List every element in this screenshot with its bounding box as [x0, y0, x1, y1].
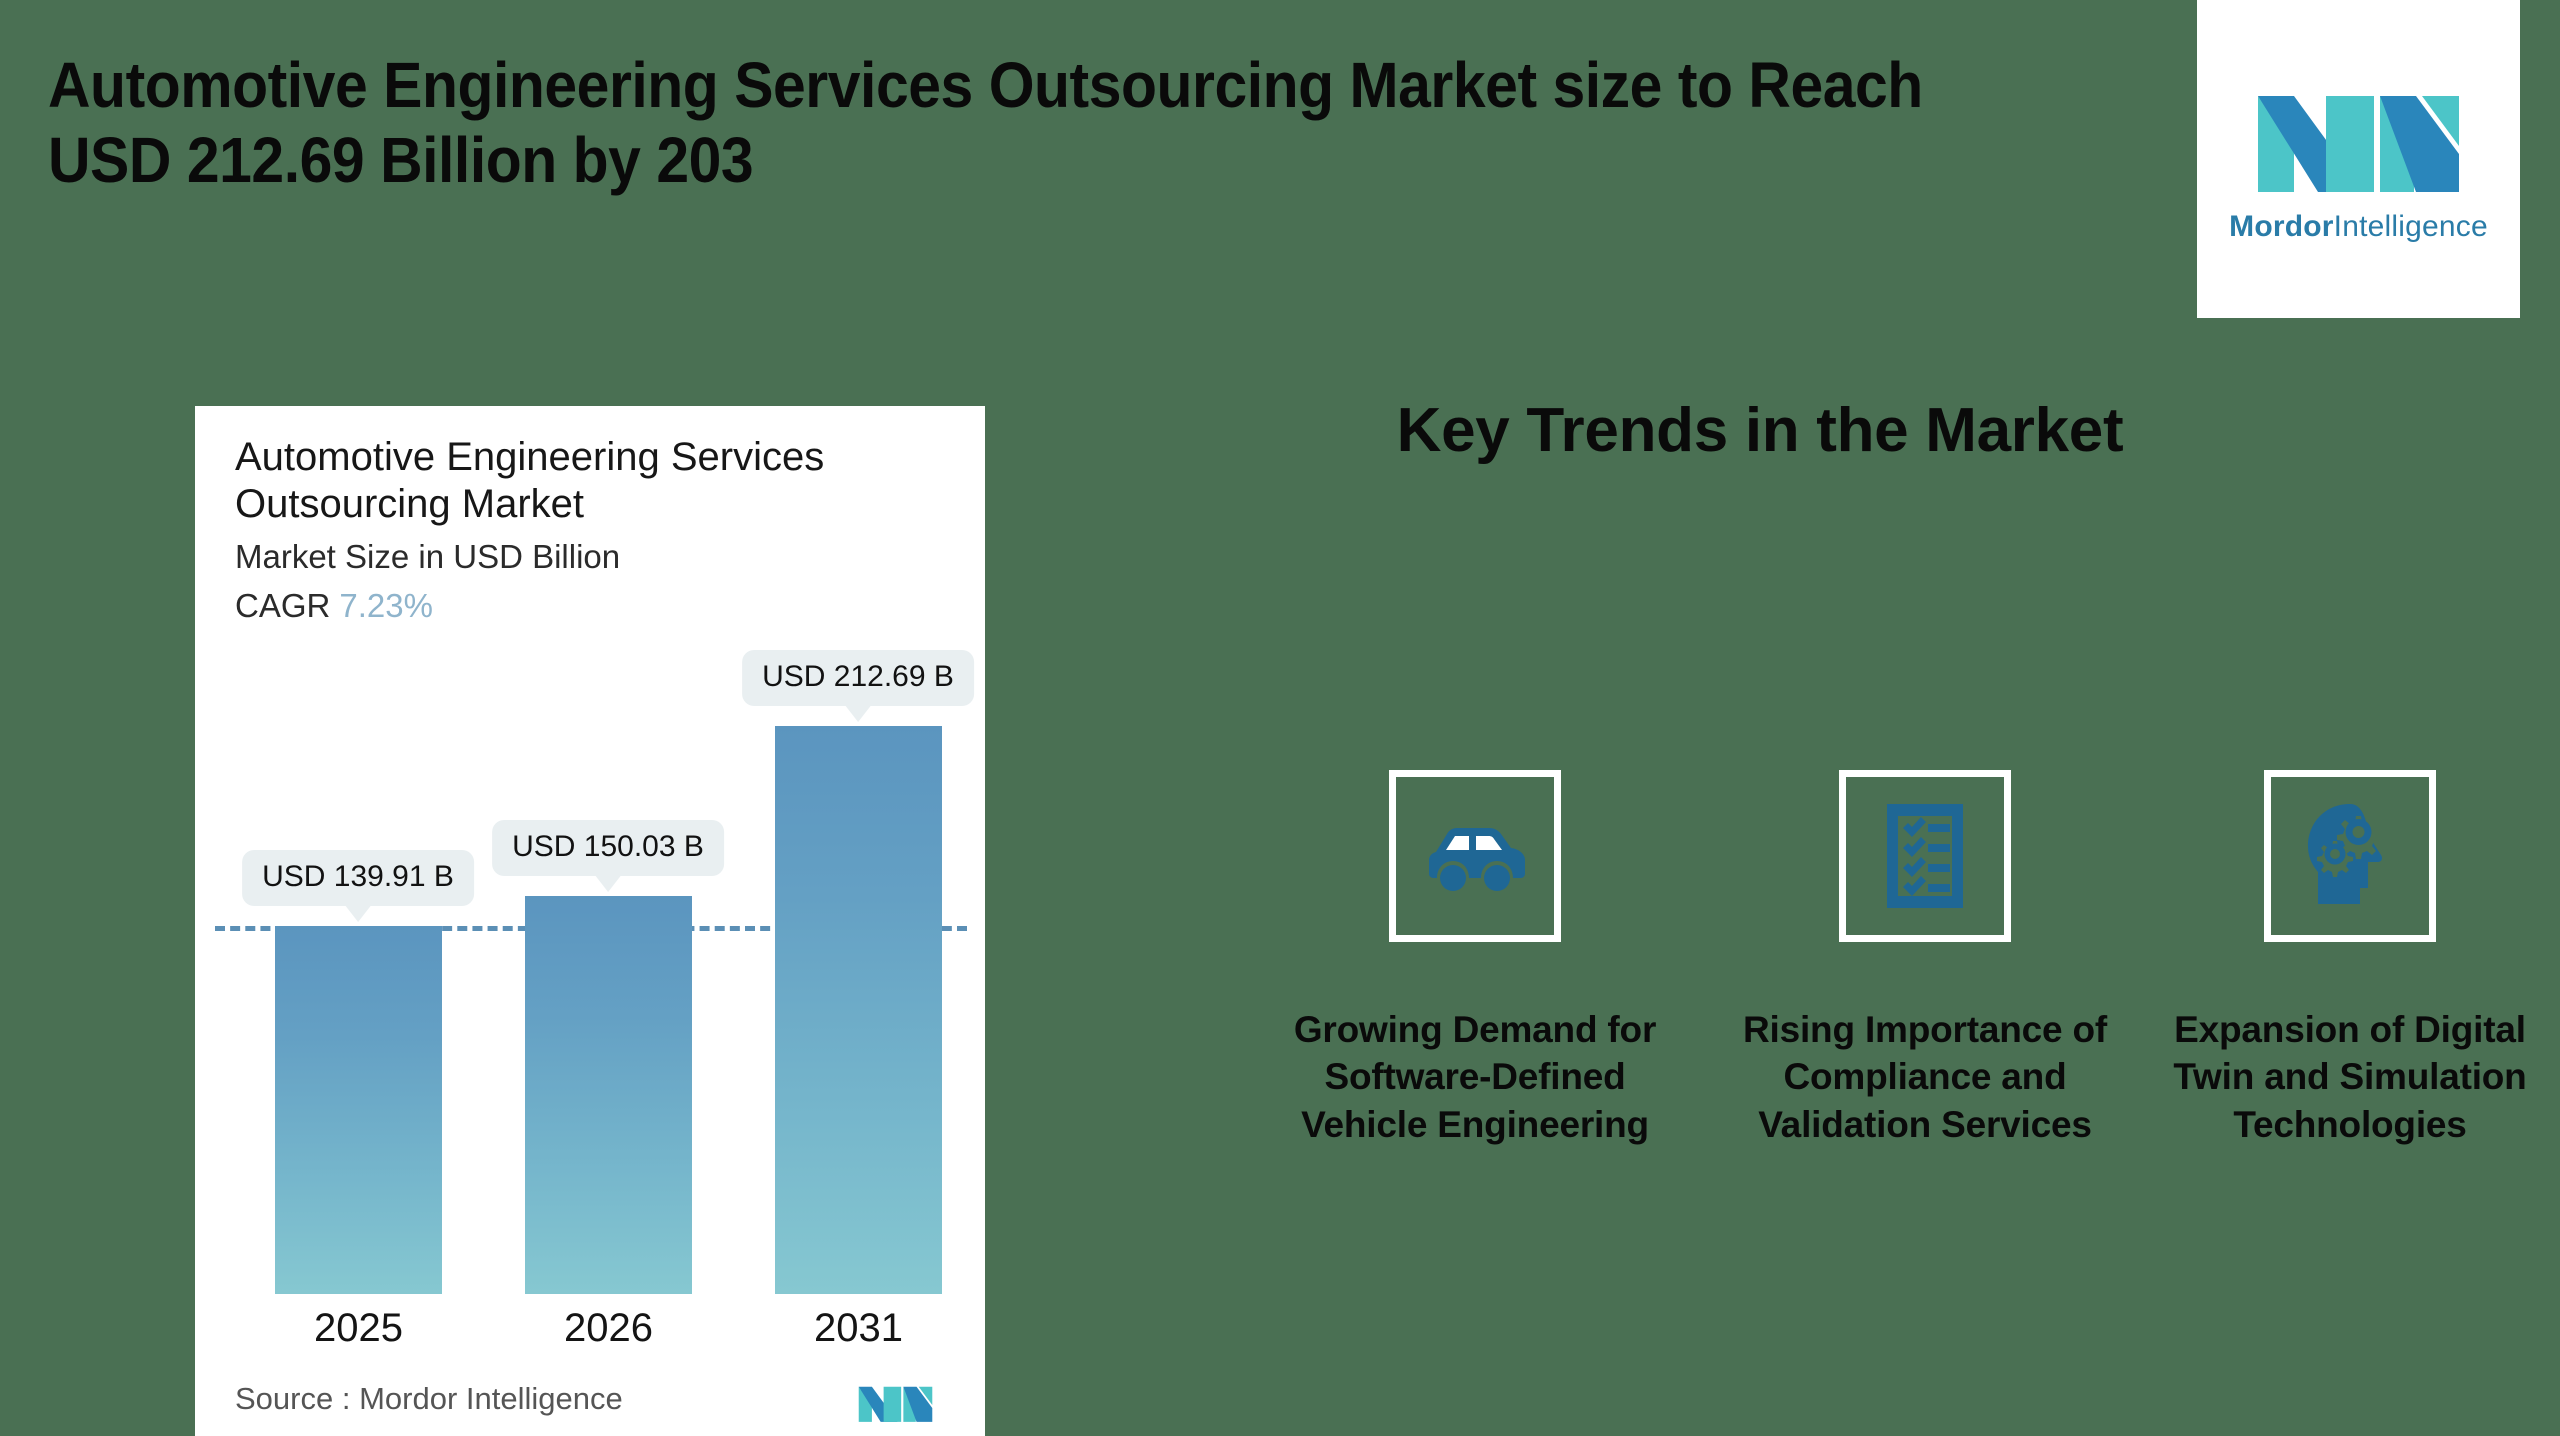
cagr-value: 7.23%	[339, 587, 433, 624]
trend-item-3: Expansion of Digital Twin and Simulation…	[2140, 770, 2560, 1148]
source-label: Source :	[235, 1381, 350, 1416]
bar-value-label-2026: USD 150.03 B	[492, 820, 724, 876]
chart-subtitle: Market Size in USD Billion	[235, 538, 620, 576]
car-icon	[1415, 796, 1535, 916]
page-title: Automotive Engineering Services Outsourc…	[48, 48, 1998, 198]
mordor-m-logo-icon	[2256, 74, 2461, 196]
trend-icon-box-1	[1389, 770, 1561, 942]
bar-2025[interactable]	[275, 926, 442, 1294]
trend-item-1: Growing Demand for Software-Defined Vehi…	[1265, 770, 1685, 1148]
chart-cagr: CAGR7.23%	[235, 587, 433, 625]
brand-logo-card: MordorIntelligence	[2197, 0, 2520, 318]
bar-2031[interactable]	[775, 726, 942, 1294]
brand-name-light: Intelligence	[2334, 210, 2488, 243]
trend-label-2: Rising Importance of Compliance and Vali…	[1715, 1006, 2135, 1148]
chart-title: Automotive Engineering Services Outsourc…	[235, 434, 915, 528]
bar-2026[interactable]	[525, 896, 692, 1294]
key-trends-heading: Key Trends in the Market	[1330, 395, 2190, 466]
bar-value-label-2031: USD 212.69 B	[742, 650, 974, 706]
checklist-icon	[1865, 796, 1985, 916]
bar-value-label-2025: USD 139.91 B	[242, 850, 474, 906]
x-axis-tick-2026: 2026	[525, 1306, 692, 1351]
brand-name-bold: Mordor	[2229, 210, 2334, 243]
trend-icon-box-2	[1839, 770, 2011, 942]
chart-source: Source : Mordor Intelligence	[235, 1381, 623, 1417]
x-axis-tick-2031: 2031	[775, 1306, 942, 1351]
trend-label-1: Growing Demand for Software-Defined Vehi…	[1265, 1006, 1685, 1148]
source-name: Mordor Intelligence	[359, 1381, 623, 1416]
head-gears-icon	[2290, 796, 2410, 916]
brand-wordmark: MordorIntelligence	[2229, 210, 2488, 244]
trend-label-3: Expansion of Digital Twin and Simulation…	[2140, 1006, 2560, 1148]
x-axis-tick-2025: 2025	[275, 1306, 442, 1351]
bar-chart-plot: USD 139.91 B USD 150.03 B USD 212.69 B	[195, 654, 985, 1294]
mordor-m-logo-small-icon	[858, 1378, 933, 1424]
trend-icon-box-3	[2264, 770, 2436, 942]
trend-item-2: Rising Importance of Compliance and Vali…	[1715, 770, 2135, 1148]
cagr-label: CAGR	[235, 587, 330, 624]
chart-card: Automotive Engineering Services Outsourc…	[195, 406, 985, 1436]
